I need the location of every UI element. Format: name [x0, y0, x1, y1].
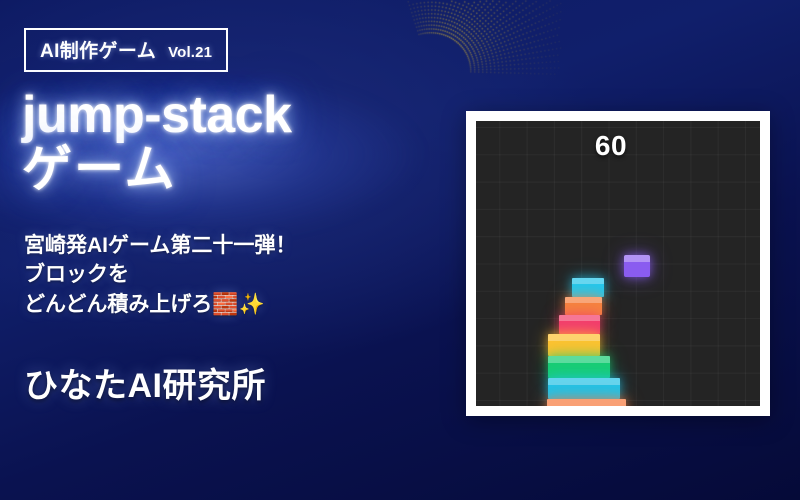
subtitle-line-2: ブロックを [24, 261, 296, 290]
falling-block [624, 255, 650, 277]
stack-block-green-5 [548, 356, 610, 378]
subtitle-line-3: どんどん積み上げろ🧱✨ [24, 290, 296, 320]
subtitle-block: 宮崎発AIゲーム第二十一弾！ ブロックを どんどん積み上げろ🧱✨ [24, 232, 296, 320]
badge-volume: Vol.21 [168, 44, 212, 61]
score-display: 60 [476, 130, 760, 162]
title-line-2: ゲーム [22, 143, 292, 196]
stack-block-orange-base [547, 399, 626, 406]
stack-block-top-cyan [572, 278, 604, 297]
badge-label: AI制作ゲーム [40, 36, 156, 63]
stack-block-cyan-6 [548, 378, 620, 399]
stack-block-pink-3 [559, 315, 600, 334]
series-badge: AI制作ゲーム Vol.21 [24, 28, 228, 72]
poster-stage: AI制作ゲーム Vol.21 jump-stack ゲーム 宮崎発AIゲーム第二… [0, 0, 800, 500]
brand-name: ひなたAI研究所 [24, 358, 266, 407]
title-line-1: jump-stack [22, 88, 292, 143]
stack-block-orange-2 [565, 297, 602, 315]
subtitle-line-3-text: どんどん積み上げろ [24, 293, 212, 316]
block-stack [476, 121, 760, 406]
brick-sparkle-emoji: 🧱✨ [212, 292, 264, 316]
main-title: jump-stack ゲーム [22, 88, 292, 196]
stack-block-yellow-4 [548, 334, 600, 356]
subtitle-line-1: 宮崎発AIゲーム第二十一弾！ [24, 232, 296, 261]
game-screenshot-panel: 60 [466, 111, 770, 416]
game-screen: 60 [476, 121, 760, 406]
